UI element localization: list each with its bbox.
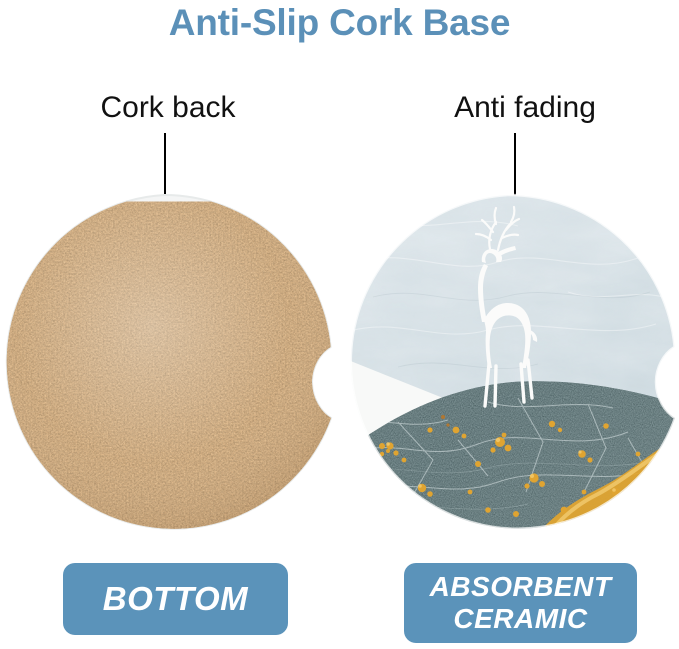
callout-label-cork-back: Cork back (38, 91, 298, 125)
badge-absorbent-line-1: ABSORBENT (430, 571, 612, 603)
callout-label-anti-fading: Anti fading (400, 91, 650, 125)
page-title: Anti-Slip Cork Base (0, 2, 679, 44)
badge-absorbent-ceramic: ABSORBENT CERAMIC (404, 563, 637, 643)
ceramic-coaster-image (338, 192, 679, 540)
cork-coaster-image (0, 192, 344, 540)
badge-bottom-line-1: BOTTOM (103, 580, 248, 618)
badge-absorbent-line-2: CERAMIC (453, 603, 587, 635)
badge-bottom: BOTTOM (63, 563, 288, 635)
